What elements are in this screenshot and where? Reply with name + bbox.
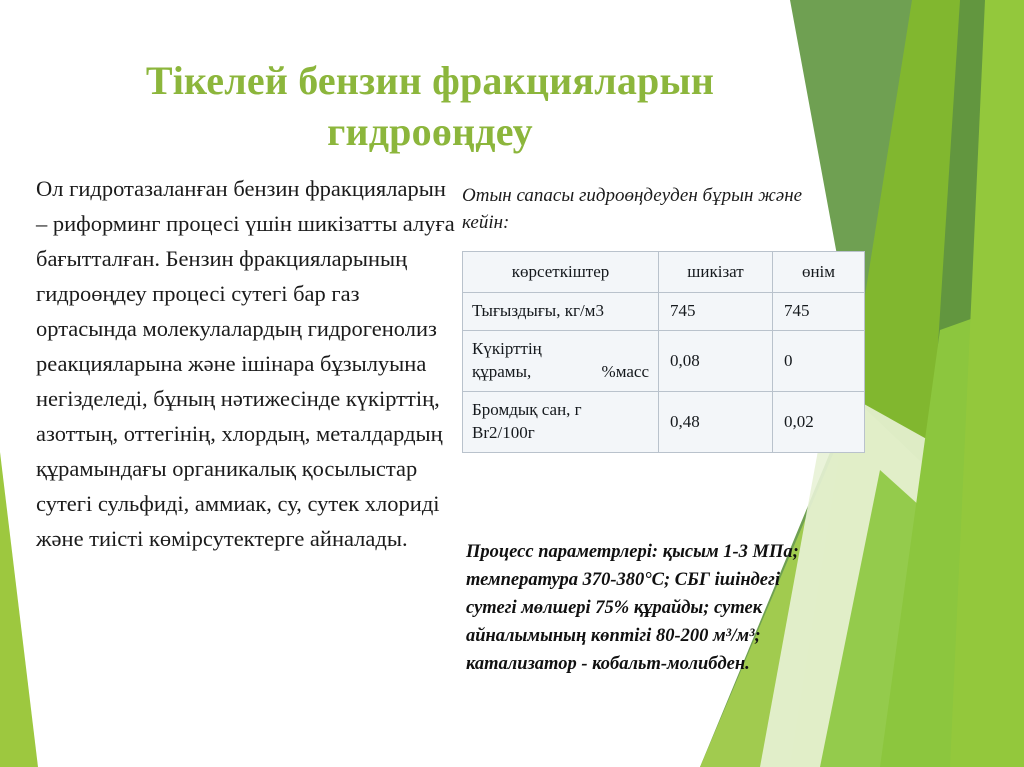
deco-shape-deep-green <box>930 0 1024 470</box>
cell-product: 745 <box>773 293 865 330</box>
process-parameters-text: Процесс параметрлері: қысым 1-3 МПа; тем… <box>466 538 818 679</box>
page-title: Тікелей бензин фракцияларын гидроөңдеу <box>80 55 780 157</box>
deco-shape-far-right <box>950 0 1024 767</box>
cell-indicator-main: Күкірттің құрамы, <box>472 339 542 380</box>
cell-feedstock: 0,08 <box>659 330 773 391</box>
cell-indicator: Бромдық сан, г Br2/100г <box>463 391 659 452</box>
table-header-row: көрсеткіштер шикізат өнім <box>463 251 865 292</box>
cell-feedstock: 745 <box>659 293 773 330</box>
fuel-quality-table: көрсеткіштер шикізат өнім Тығыздығы, кг/… <box>462 251 865 453</box>
cell-product: 0,02 <box>773 391 865 452</box>
table-row: Бромдық сан, г Br2/100г 0,48 0,02 <box>463 391 865 452</box>
cell-indicator: Күкірттің құрамы,%масс <box>463 330 659 391</box>
body-paragraph: Ол гидротазаланған бензин фракцияларын –… <box>36 172 456 557</box>
table-row: Тығыздығы, кг/м3 745 745 <box>463 293 865 330</box>
cell-indicator-unit: %масс <box>602 361 649 383</box>
left-content-column: Ол гидротазаланған бензин фракцияларын –… <box>36 172 456 557</box>
col-header-indicator: көрсеткіштер <box>463 251 659 292</box>
table-row: Күкірттің құрамы,%масс 0,08 0 <box>463 330 865 391</box>
deco-shape-mid-pale <box>820 470 1024 767</box>
col-header-feedstock: шикізат <box>659 251 773 292</box>
deco-shape-right-edge <box>880 300 1024 767</box>
cell-indicator: Тығыздығы, кг/м3 <box>463 293 659 330</box>
deco-shape-left-wedge <box>0 452 38 767</box>
cell-feedstock: 0,48 <box>659 391 773 452</box>
col-header-product: өнім <box>773 251 865 292</box>
slide-root: Тікелей бензин фракцияларын гидроөңдеу О… <box>0 0 1024 767</box>
right-content-column: Отын сапасы гидроөңдеуден бұрын және кей… <box>462 183 866 453</box>
cell-product: 0 <box>773 330 865 391</box>
table-caption: Отын сапасы гидроөңдеуден бұрын және кей… <box>462 183 807 237</box>
